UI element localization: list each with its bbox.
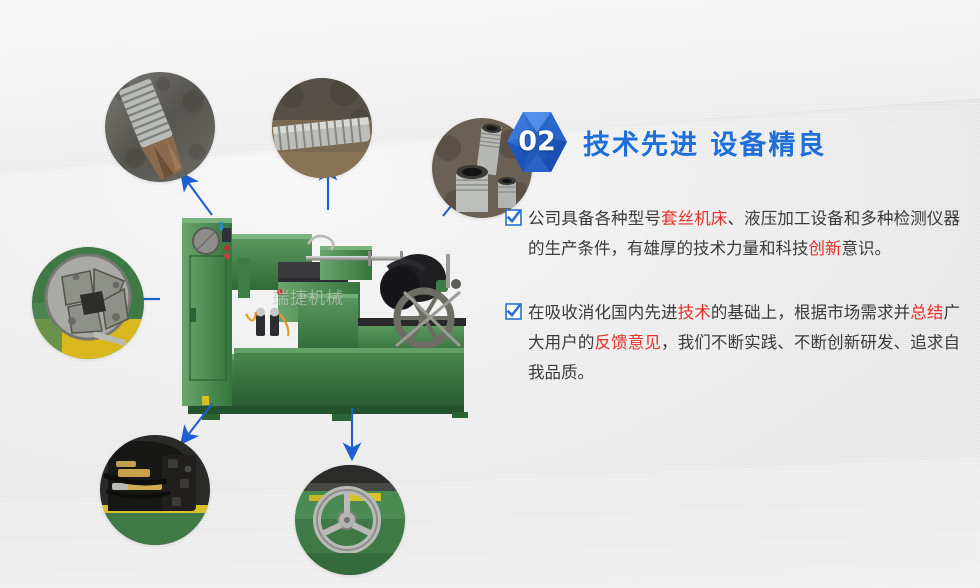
highlighted-run: 创新 bbox=[809, 239, 842, 258]
plain-run: 在吸收消化国内先进 bbox=[528, 303, 678, 322]
bullet-text-2: 在吸收消化国内先进技术的基础上，根据市场需求并总结广大用户的反馈意见，我们不断实… bbox=[528, 298, 960, 388]
highlighted-run: 反馈意见 bbox=[594, 333, 660, 352]
callout-hydraulic-fittings bbox=[100, 435, 210, 545]
bullet-item-1: 公司具备各种型号套丝机床、液压加工设备和多种检测仪器的生产条件，有雄厚的技术力量… bbox=[505, 204, 960, 264]
highlighted-run: 套丝机床 bbox=[661, 209, 727, 228]
section-title: 技术先进 设备精良 bbox=[583, 123, 826, 162]
section-header: 02 技术先进 设备精良 bbox=[505, 106, 960, 178]
callout-handwheel bbox=[295, 465, 405, 575]
plain-run: 公司具备各种型号 bbox=[528, 209, 661, 228]
callout-threaded-bar bbox=[272, 78, 372, 178]
checkbox-checked-icon bbox=[505, 209, 522, 226]
bullet-text-1: 公司具备各种型号套丝机床、液压加工设备和多种检测仪器的生产条件，有雄厚的技术力量… bbox=[528, 204, 960, 264]
section-number-badge: 02 bbox=[505, 110, 569, 174]
content-column: 02 技术先进 设备精良 公司具备各种型号套丝机床、液压加工设备和多种检测仪器的… bbox=[505, 106, 960, 388]
plain-run: 意识。 bbox=[842, 239, 892, 258]
callout-die-head-chuck bbox=[32, 247, 144, 359]
promo-banner: 瑞捷机械 bbox=[0, 0, 980, 588]
product-photo-machine: 瑞捷机械 bbox=[160, 196, 490, 426]
callout-threaded-rod-closeup bbox=[105, 72, 215, 182]
section-number-text: 02 bbox=[505, 110, 569, 174]
highlighted-run: 总结 bbox=[910, 303, 943, 322]
plain-run: 的基础上，根据市场需求并 bbox=[711, 303, 910, 322]
bullet-item-2: 在吸收消化国内先进技术的基础上，根据市场需求并总结广大用户的反馈意见，我们不断实… bbox=[505, 298, 960, 388]
highlighted-run: 技术 bbox=[678, 303, 711, 322]
checkbox-checked-icon bbox=[505, 303, 522, 320]
